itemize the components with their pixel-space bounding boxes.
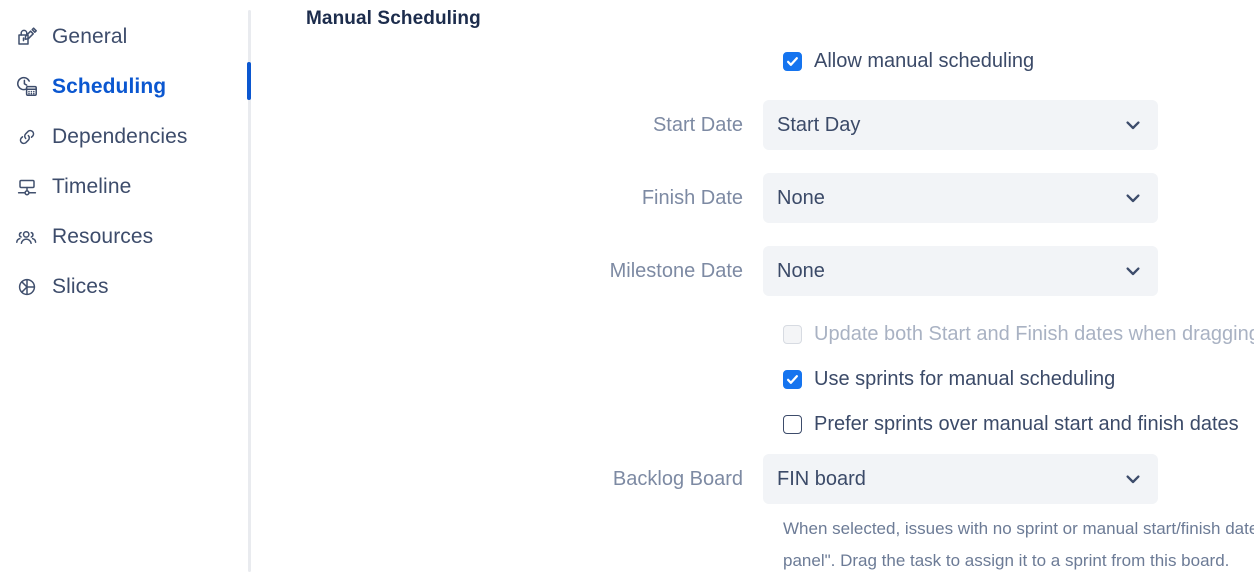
lock-pencil-icon xyxy=(14,24,40,50)
chevron-down-icon[interactable] xyxy=(1122,468,1144,490)
sidebar-item-general[interactable]: General xyxy=(0,12,250,62)
clock-calendar-icon xyxy=(14,74,40,100)
sidebar-item-label: Dependencies xyxy=(52,125,187,149)
scheduling-settings-panel: Manual Scheduling Allow manual schedulin… xyxy=(250,0,1254,580)
finish-date-row: Finish Date None xyxy=(250,173,1158,223)
checkbox-checked-icon[interactable] xyxy=(783,370,802,389)
sidebar-item-label: Resources xyxy=(52,225,153,249)
chevron-down-icon[interactable] xyxy=(1122,260,1144,282)
finish-date-select[interactable]: None xyxy=(763,173,1158,223)
sidebar-item-timeline[interactable]: Timeline xyxy=(0,162,250,212)
sidebar-item-slices[interactable]: Slices xyxy=(0,262,250,312)
sidebar-item-scheduling[interactable]: Scheduling xyxy=(0,62,250,112)
backlog-board-row: Backlog Board FIN board xyxy=(250,454,1158,504)
settings-sidebar: General Scheduling Depend xyxy=(0,0,250,580)
use-sprints-label: Use sprints for manual scheduling xyxy=(814,368,1115,391)
allow-manual-scheduling-label: Allow manual scheduling xyxy=(814,50,1034,73)
checkbox-disabled-icon xyxy=(783,325,802,344)
sidebar-item-dependencies[interactable]: Dependencies xyxy=(0,112,250,162)
start-date-row: Start Date Start Day xyxy=(250,100,1158,150)
pie-slice-icon xyxy=(14,274,40,300)
sidebar-item-resources[interactable]: Resources xyxy=(0,212,250,262)
milestone-date-row: Milestone Date None xyxy=(250,246,1158,296)
chevron-down-icon[interactable] xyxy=(1122,187,1144,209)
prefer-sprints-label: Prefer sprints over manual start and fin… xyxy=(814,413,1239,436)
people-group-icon xyxy=(14,224,40,250)
update-both-dates-label: Update both Start and Finish dates when … xyxy=(814,323,1254,346)
sidebar-item-label: Scheduling xyxy=(52,75,166,99)
update-both-dates-checkbox-row[interactable]: Update both Start and Finish dates when … xyxy=(783,323,1254,346)
finish-date-label: Finish Date xyxy=(250,187,763,210)
link-chain-icon xyxy=(14,124,40,150)
sidebar-active-indicator xyxy=(247,62,251,100)
sidebar-item-label: General xyxy=(52,25,127,49)
allow-manual-scheduling-checkbox-row[interactable]: Allow manual scheduling xyxy=(783,50,1034,73)
sidebar-item-label: Slices xyxy=(52,275,109,299)
checkbox-checked-icon[interactable] xyxy=(783,52,802,71)
settings-screen: General Scheduling Depend xyxy=(0,0,1254,580)
page-title: Manual Scheduling xyxy=(306,8,481,30)
backlog-board-select[interactable]: FIN board xyxy=(763,454,1158,504)
checkbox-unchecked-icon[interactable] xyxy=(783,415,802,434)
start-date-label: Start Date xyxy=(250,114,763,137)
milestone-date-select[interactable]: None xyxy=(763,246,1158,296)
use-sprints-checkbox-row[interactable]: Use sprints for manual scheduling xyxy=(783,368,1115,391)
prefer-sprints-checkbox-row[interactable]: Prefer sprints over manual start and fin… xyxy=(783,413,1239,436)
start-date-select[interactable]: Start Day xyxy=(763,100,1158,150)
backlog-board-helper-text: When selected, issues with no sprint or … xyxy=(783,513,1254,577)
chevron-down-icon[interactable] xyxy=(1122,114,1144,136)
start-date-value: Start Day xyxy=(777,114,1122,137)
milestone-date-label: Milestone Date xyxy=(250,260,763,283)
backlog-board-value: FIN board xyxy=(777,468,1122,491)
timeline-icon xyxy=(14,174,40,200)
finish-date-value: None xyxy=(777,187,1122,210)
sidebar-item-label: Timeline xyxy=(52,175,131,199)
backlog-board-label: Backlog Board xyxy=(250,468,763,491)
milestone-date-value: None xyxy=(777,260,1122,283)
